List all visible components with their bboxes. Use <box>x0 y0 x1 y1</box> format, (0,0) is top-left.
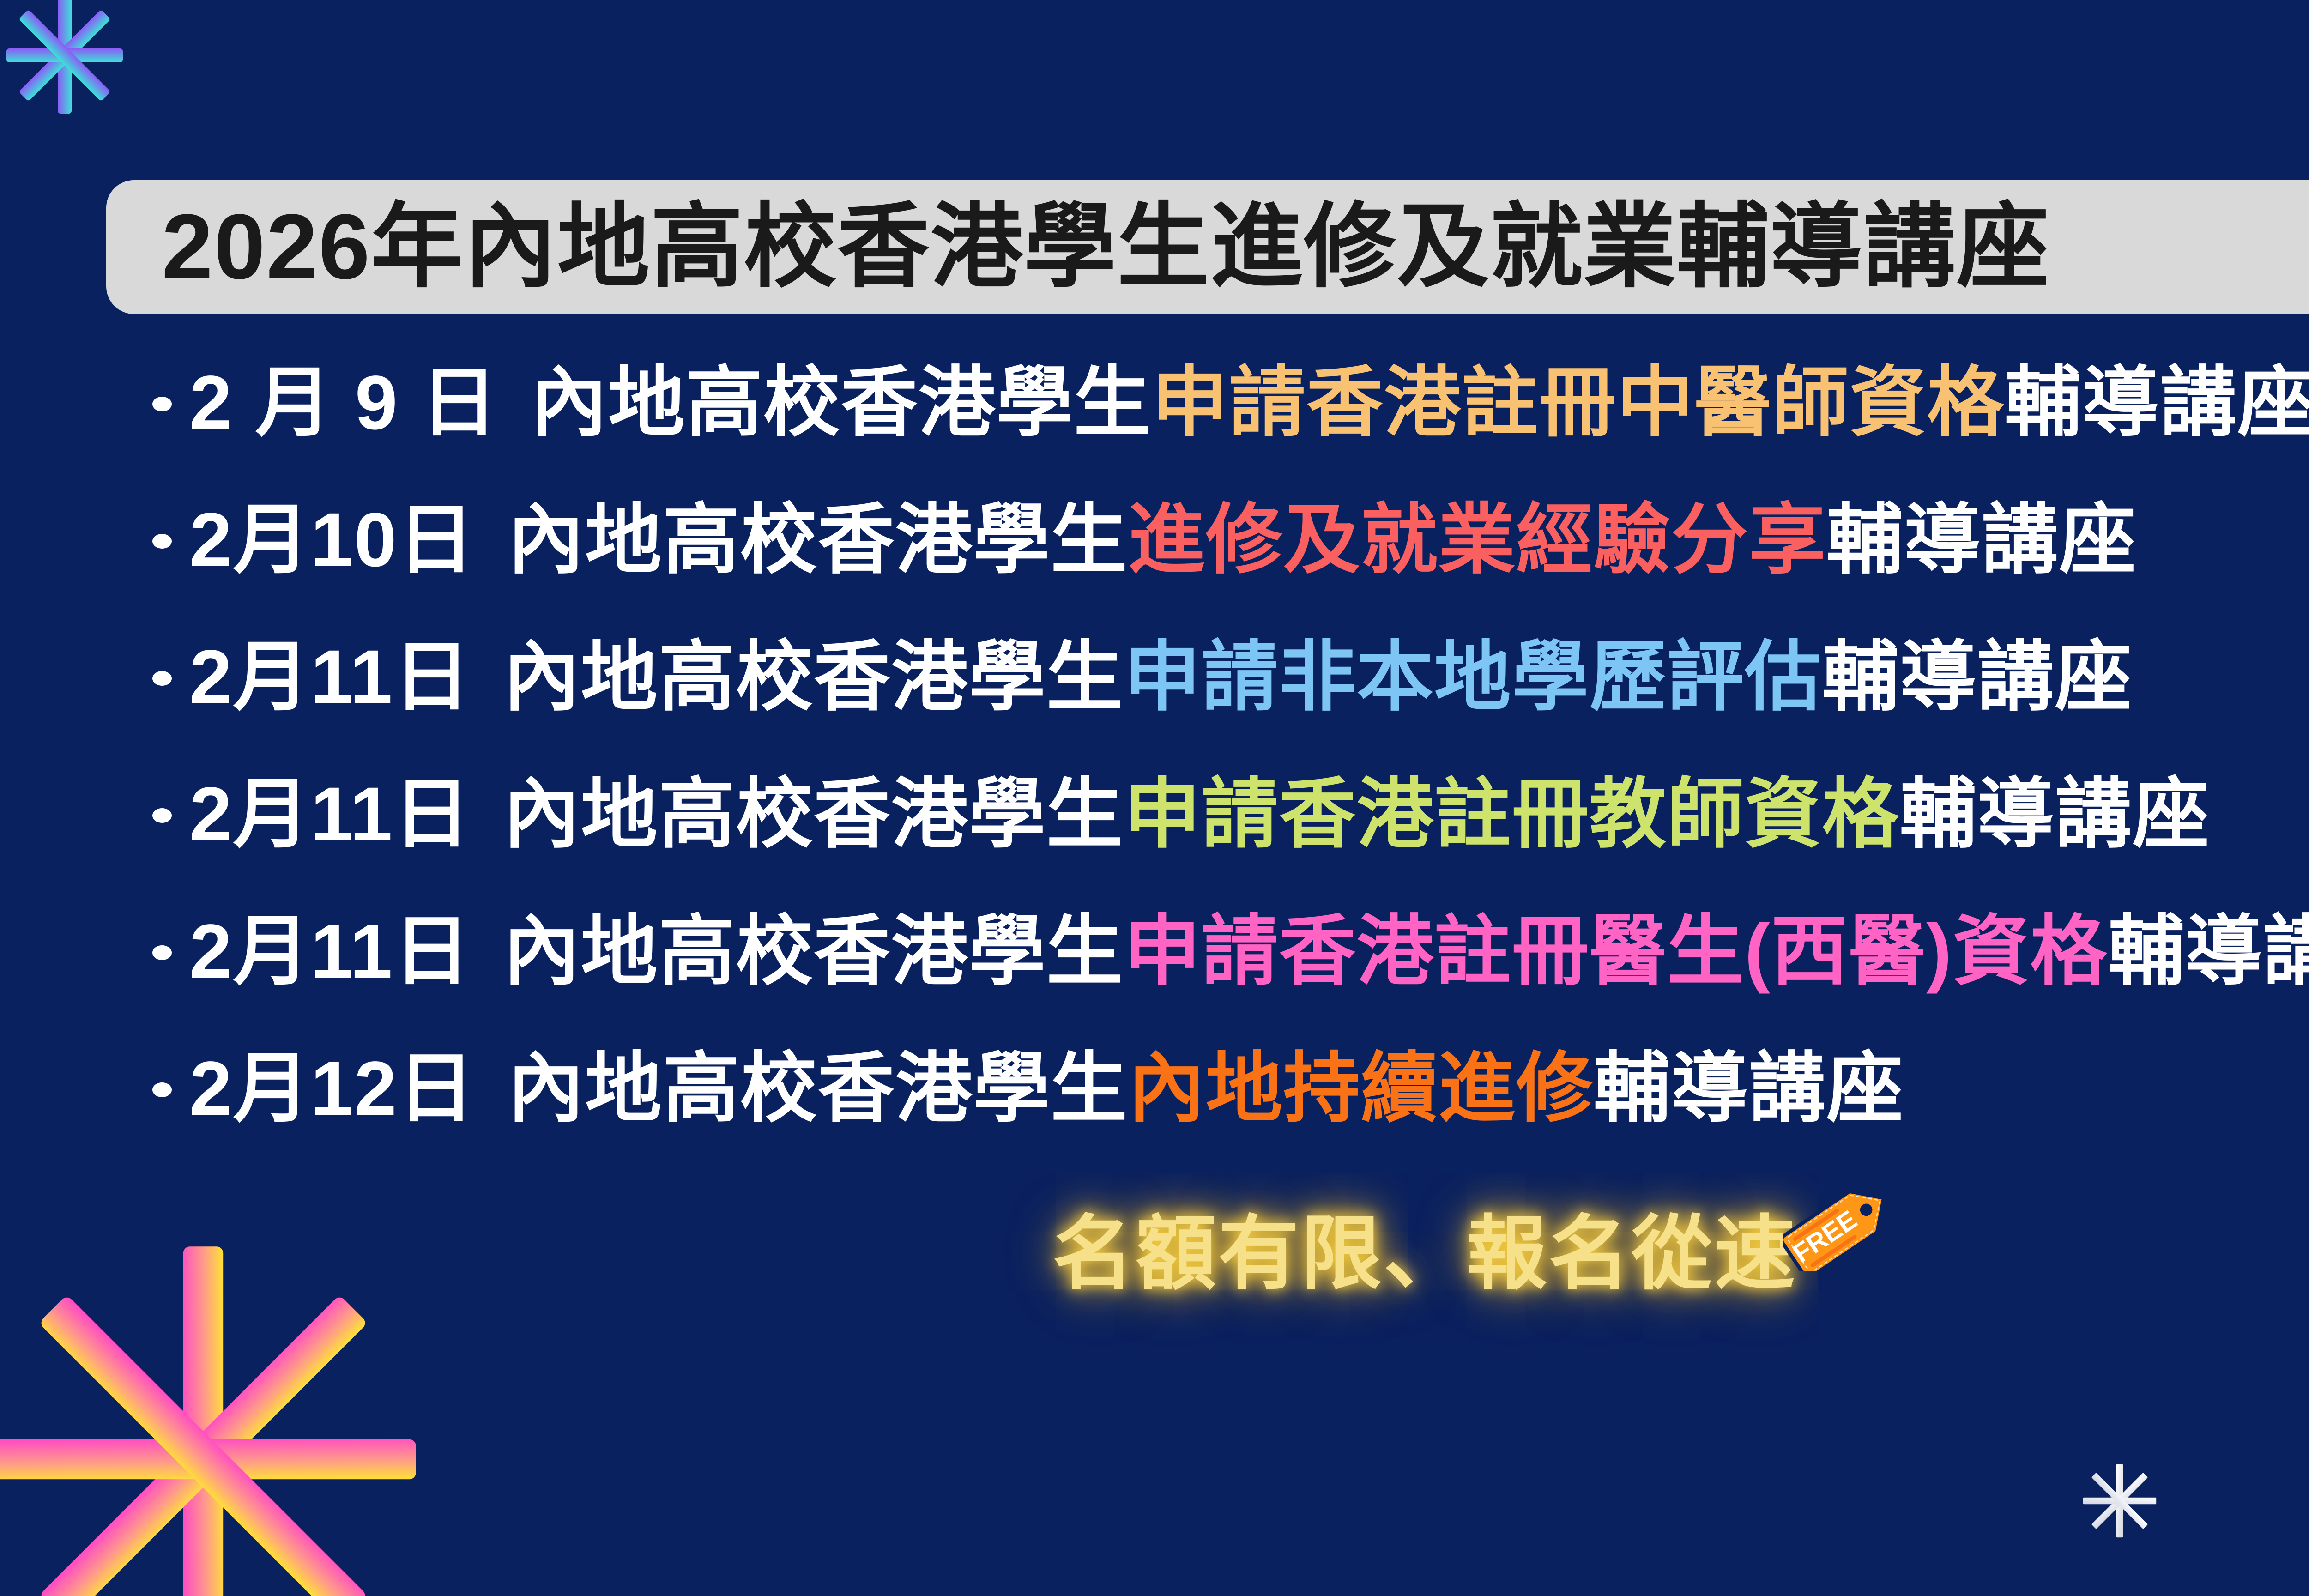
session-date: 2月11日 <box>189 913 471 990</box>
session-topic: 申請香港註冊中醫師資格 <box>1151 365 2005 441</box>
decorative-star-bottom-left <box>0 1238 425 1596</box>
session-date: 2 月 9 日 <box>189 365 498 441</box>
list-item[interactable]: 2月11日 內地高校香港學生 申請香港註冊醫生(西醫)資格 輔導講座 <box>152 913 2309 1051</box>
session-prefix: 內地高校香港學生 <box>503 639 1124 716</box>
session-prefix: 內地高校香港學生 <box>531 365 1151 441</box>
list-item[interactable]: 2月12日 內地高校香港學生 內地持續進修 輔導講座 <box>152 1051 2309 1188</box>
session-suffix: 輔導講座 <box>2108 913 2309 990</box>
session-suffix: 輔導講座 <box>2005 365 2309 441</box>
session-topic: 申請香港註冊教師資格 <box>1124 776 1900 853</box>
bullet-icon <box>152 945 172 960</box>
free-tag-icon: FREE <box>1783 1183 1898 1271</box>
decorative-star-top-left <box>0 0 134 125</box>
session-topic: 申請香港註冊醫生(西醫)資格 <box>1124 913 2108 990</box>
page-title: 2026年內地高校香港學生進修及就業輔導講座 <box>162 201 2050 293</box>
bullet-icon <box>152 808 172 823</box>
session-prefix: 內地高校香港學生 <box>503 913 1124 990</box>
session-suffix: 輔導講座 <box>1594 1051 1904 1127</box>
session-date: 2月10日 <box>189 502 475 579</box>
session-topic: 內地持續進修 <box>1128 1051 1594 1127</box>
cta-block: 名額有限、報名從速 FREE <box>1053 1210 1898 1298</box>
session-suffix: 輔導講座 <box>1826 502 2137 579</box>
session-prefix: 內地高校香港學生 <box>503 776 1124 853</box>
session-list: 2 月 9 日 內地高校香港學生 申請香港註冊中醫師資格 輔導講座 2月10日 … <box>152 365 2309 1188</box>
session-prefix: 內地高校香港學生 <box>508 502 1128 579</box>
bullet-icon <box>152 671 172 686</box>
bullet-icon <box>152 1082 172 1097</box>
session-topic: 進修及就業經驗分享 <box>1128 502 1826 579</box>
session-date: 2月12日 <box>189 1051 475 1127</box>
page-title-bar: 2026年內地高校香港學生進修及就業輔導講座 <box>106 180 2309 314</box>
list-item[interactable]: 2 月 9 日 內地高校香港學生 申請香港註冊中醫師資格 輔導講座 <box>152 365 2309 502</box>
session-date: 2月11日 <box>189 639 471 716</box>
list-item[interactable]: 2月11日 內地高校香港學生 申請香港註冊教師資格 輔導講座 <box>152 776 2309 913</box>
session-date: 2月11日 <box>189 776 471 853</box>
list-item[interactable]: 2月11日 內地高校香港學生 申請非本地學歷評估 輔導講座 <box>152 639 2309 776</box>
session-topic: 申請非本地學歷評估 <box>1124 639 1822 716</box>
cta-text: 名額有限、報名從速 <box>1053 1214 1797 1294</box>
session-suffix: 輔導講座 <box>1822 639 2133 716</box>
bullet-icon <box>152 534 172 549</box>
bullet-icon <box>152 397 172 411</box>
session-suffix: 輔導講座 <box>1900 776 2210 853</box>
decorative-star-bottom-center <box>2078 1459 2161 1542</box>
list-item[interactable]: 2月10日 內地高校香港學生 進修及就業經驗分享 輔導講座 <box>152 502 2309 639</box>
session-prefix: 內地高校香港學生 <box>508 1051 1128 1127</box>
